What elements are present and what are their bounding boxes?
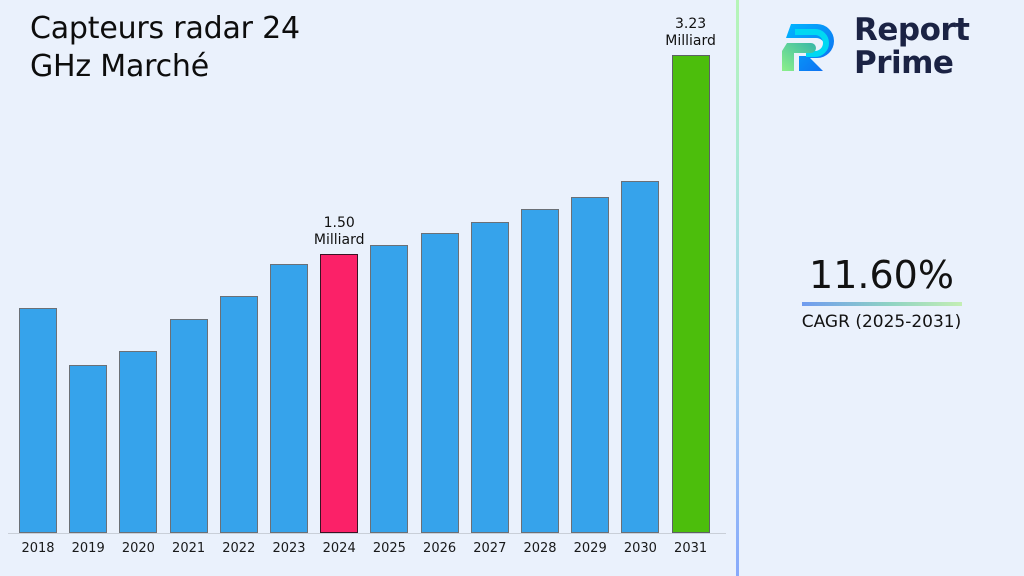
brand-wordmark-line2: Prime bbox=[854, 45, 953, 81]
bar-2022 bbox=[220, 296, 258, 533]
x-axis-line bbox=[8, 533, 726, 534]
bar-2024 bbox=[320, 254, 358, 534]
cagr-divider-rule bbox=[802, 302, 962, 306]
bar-chart-plot: 2018201920202021202220231.50 Milliard202… bbox=[0, 0, 736, 576]
x-tick-2031: 2031 bbox=[661, 541, 721, 556]
cagr-caption: CAGR (2025-2031) bbox=[739, 311, 1024, 333]
brand-wordmark: Report Prime bbox=[854, 14, 970, 80]
bar-2025 bbox=[370, 245, 408, 533]
cagr-block: 11.60% CAGR (2025-2031) bbox=[739, 252, 1024, 333]
bar-2018 bbox=[19, 308, 57, 533]
bar-2020 bbox=[119, 351, 157, 533]
bar-2023 bbox=[270, 264, 308, 533]
bar-2026 bbox=[421, 233, 459, 533]
bar-2030 bbox=[621, 181, 659, 533]
bar-value-label-2024: 1.50 Milliard bbox=[294, 215, 384, 249]
brand-wordmark-line1: Report bbox=[854, 12, 970, 48]
bar-2031 bbox=[672, 55, 710, 533]
report-prime-logo-mark-icon bbox=[777, 15, 841, 79]
bar-value-label-2031: 3.23 Milliard bbox=[646, 16, 736, 50]
brand-logo: Report Prime bbox=[777, 14, 970, 80]
bar-2019 bbox=[69, 365, 107, 533]
brand-panel: Report Prime 11.60% CAGR (2025-2031) bbox=[739, 0, 1024, 576]
bar-2029 bbox=[571, 197, 609, 533]
cagr-value: 11.60% bbox=[739, 252, 1024, 298]
infographic-root: Capteurs radar 24 GHz Marché 20182019202… bbox=[0, 0, 1024, 576]
bar-2027 bbox=[471, 222, 509, 533]
chart-panel: Capteurs radar 24 GHz Marché 20182019202… bbox=[0, 0, 736, 576]
bar-2028 bbox=[521, 209, 559, 533]
bar-2021 bbox=[170, 319, 208, 533]
